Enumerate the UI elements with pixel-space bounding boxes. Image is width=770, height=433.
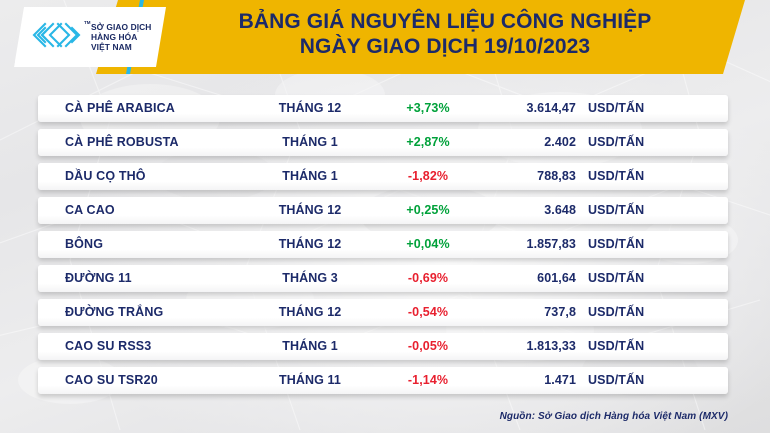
contract-month: THÁNG 12 bbox=[240, 95, 380, 122]
price-value: 737,8 bbox=[458, 299, 576, 326]
commodity-name: CÀ PHÊ ROBUSTA bbox=[65, 129, 179, 156]
page-title: BẢNG GIÁ NGUYÊN LIỆU CÔNG NGHIỆP NGÀY GI… bbox=[180, 10, 710, 60]
price-unit: USD/TẤN bbox=[588, 129, 644, 156]
source-note: Nguồn: Sở Giao dịch Hàng hóa Việt Nam (M… bbox=[500, 411, 728, 422]
contract-month: THÁNG 1 bbox=[240, 163, 380, 190]
commodity-name: DẦU CỌ THÔ bbox=[65, 163, 146, 190]
price-unit: USD/TẤN bbox=[588, 163, 644, 190]
price-value: 1.857,83 bbox=[458, 231, 576, 258]
logo-trademark: TM bbox=[84, 20, 91, 25]
price-unit: USD/TẤN bbox=[588, 367, 644, 394]
commodity-name: CAO SU TSR20 bbox=[65, 367, 158, 394]
contract-month: THÁNG 3 bbox=[240, 265, 380, 292]
table-row[interactable]: DẦU CỌ THÔTHÁNG 1-1,82%788,83USD/TẤN bbox=[38, 163, 728, 190]
price-value: 601,64 bbox=[458, 265, 576, 292]
contract-month: THÁNG 1 bbox=[240, 333, 380, 360]
price-unit: USD/TẤN bbox=[588, 299, 644, 326]
commodity-name: CA CAO bbox=[65, 197, 115, 224]
contract-month: THÁNG 12 bbox=[240, 299, 380, 326]
price-value: 788,83 bbox=[458, 163, 576, 190]
commodity-name: CÀ PHÊ ARABICA bbox=[65, 95, 175, 122]
table-row[interactable]: CA CAOTHÁNG 12+0,25%3.648USD/TẤN bbox=[38, 197, 728, 224]
commodity-name: ĐƯỜNG TRẮNG bbox=[65, 299, 163, 326]
logo-plate: TM SỞ GIAO DỊCH HÀNG HÓA VIỆT NAM bbox=[14, 7, 166, 67]
contract-month: THÁNG 1 bbox=[240, 129, 380, 156]
price-value: 1.813,33 bbox=[458, 333, 576, 360]
price-unit: USD/TẤN bbox=[588, 333, 644, 360]
table-row[interactable]: BÔNGTHÁNG 12+0,04%1.857,83USD/TẤN bbox=[38, 231, 728, 258]
logo-line-3: VIỆT NAM bbox=[91, 42, 132, 52]
commodity-name: ĐƯỜNG 11 bbox=[65, 265, 132, 292]
page-title-line-2: NGÀY GIAO DỊCH 19/10/2023 bbox=[180, 35, 710, 60]
commodity-price-table: CÀ PHÊ ARABICATHÁNG 12+3,73%3.614,47USD/… bbox=[38, 95, 728, 394]
price-value: 3.648 bbox=[458, 197, 576, 224]
contract-month: THÁNG 12 bbox=[240, 197, 380, 224]
price-value: 2.402 bbox=[458, 129, 576, 156]
commodity-name: BÔNG bbox=[65, 231, 103, 258]
price-value: 3.614,47 bbox=[458, 95, 576, 122]
logo-wordmark: SỞ GIAO DỊCH HÀNG HÓA VIỆT NAM bbox=[91, 22, 151, 53]
table-row[interactable]: CÀ PHÊ ROBUSTATHÁNG 1+2,87%2.402USD/TẤN bbox=[38, 129, 728, 156]
price-unit: USD/TẤN bbox=[588, 197, 644, 224]
table-row[interactable]: CAO SU TSR20THÁNG 11-1,14%1.471USD/TẤN bbox=[38, 367, 728, 394]
contract-month: THÁNG 12 bbox=[240, 231, 380, 258]
price-board-page: TM SỞ GIAO DỊCH HÀNG HÓA VIỆT NAM BẢNG G… bbox=[0, 0, 770, 433]
contract-month: THÁNG 11 bbox=[240, 367, 380, 394]
price-unit: USD/TẤN bbox=[588, 265, 644, 292]
price-unit: USD/TẤN bbox=[588, 95, 644, 122]
commodity-name: CAO SU RSS3 bbox=[65, 333, 151, 360]
table-row[interactable]: ĐƯỜNG 11THÁNG 3-0,69%601,64USD/TẤN bbox=[38, 265, 728, 292]
price-value: 1.471 bbox=[458, 367, 576, 394]
logo-line-1: SỞ GIAO DỊCH bbox=[91, 22, 151, 32]
logo-line-2: HÀNG HÓA bbox=[91, 32, 137, 42]
price-unit: USD/TẤN bbox=[588, 231, 644, 258]
page-title-line-1: BẢNG GIÁ NGUYÊN LIỆU CÔNG NGHIỆP bbox=[180, 10, 710, 35]
table-row[interactable]: CAO SU RSS3THÁNG 1-0,05%1.813,33USD/TẤN bbox=[38, 333, 728, 360]
mxv-wave-logo-icon bbox=[30, 20, 86, 54]
table-row[interactable]: ĐƯỜNG TRẮNGTHÁNG 12-0,54%737,8USD/TẤN bbox=[38, 299, 728, 326]
table-row[interactable]: CÀ PHÊ ARABICATHÁNG 12+3,73%3.614,47USD/… bbox=[38, 95, 728, 122]
